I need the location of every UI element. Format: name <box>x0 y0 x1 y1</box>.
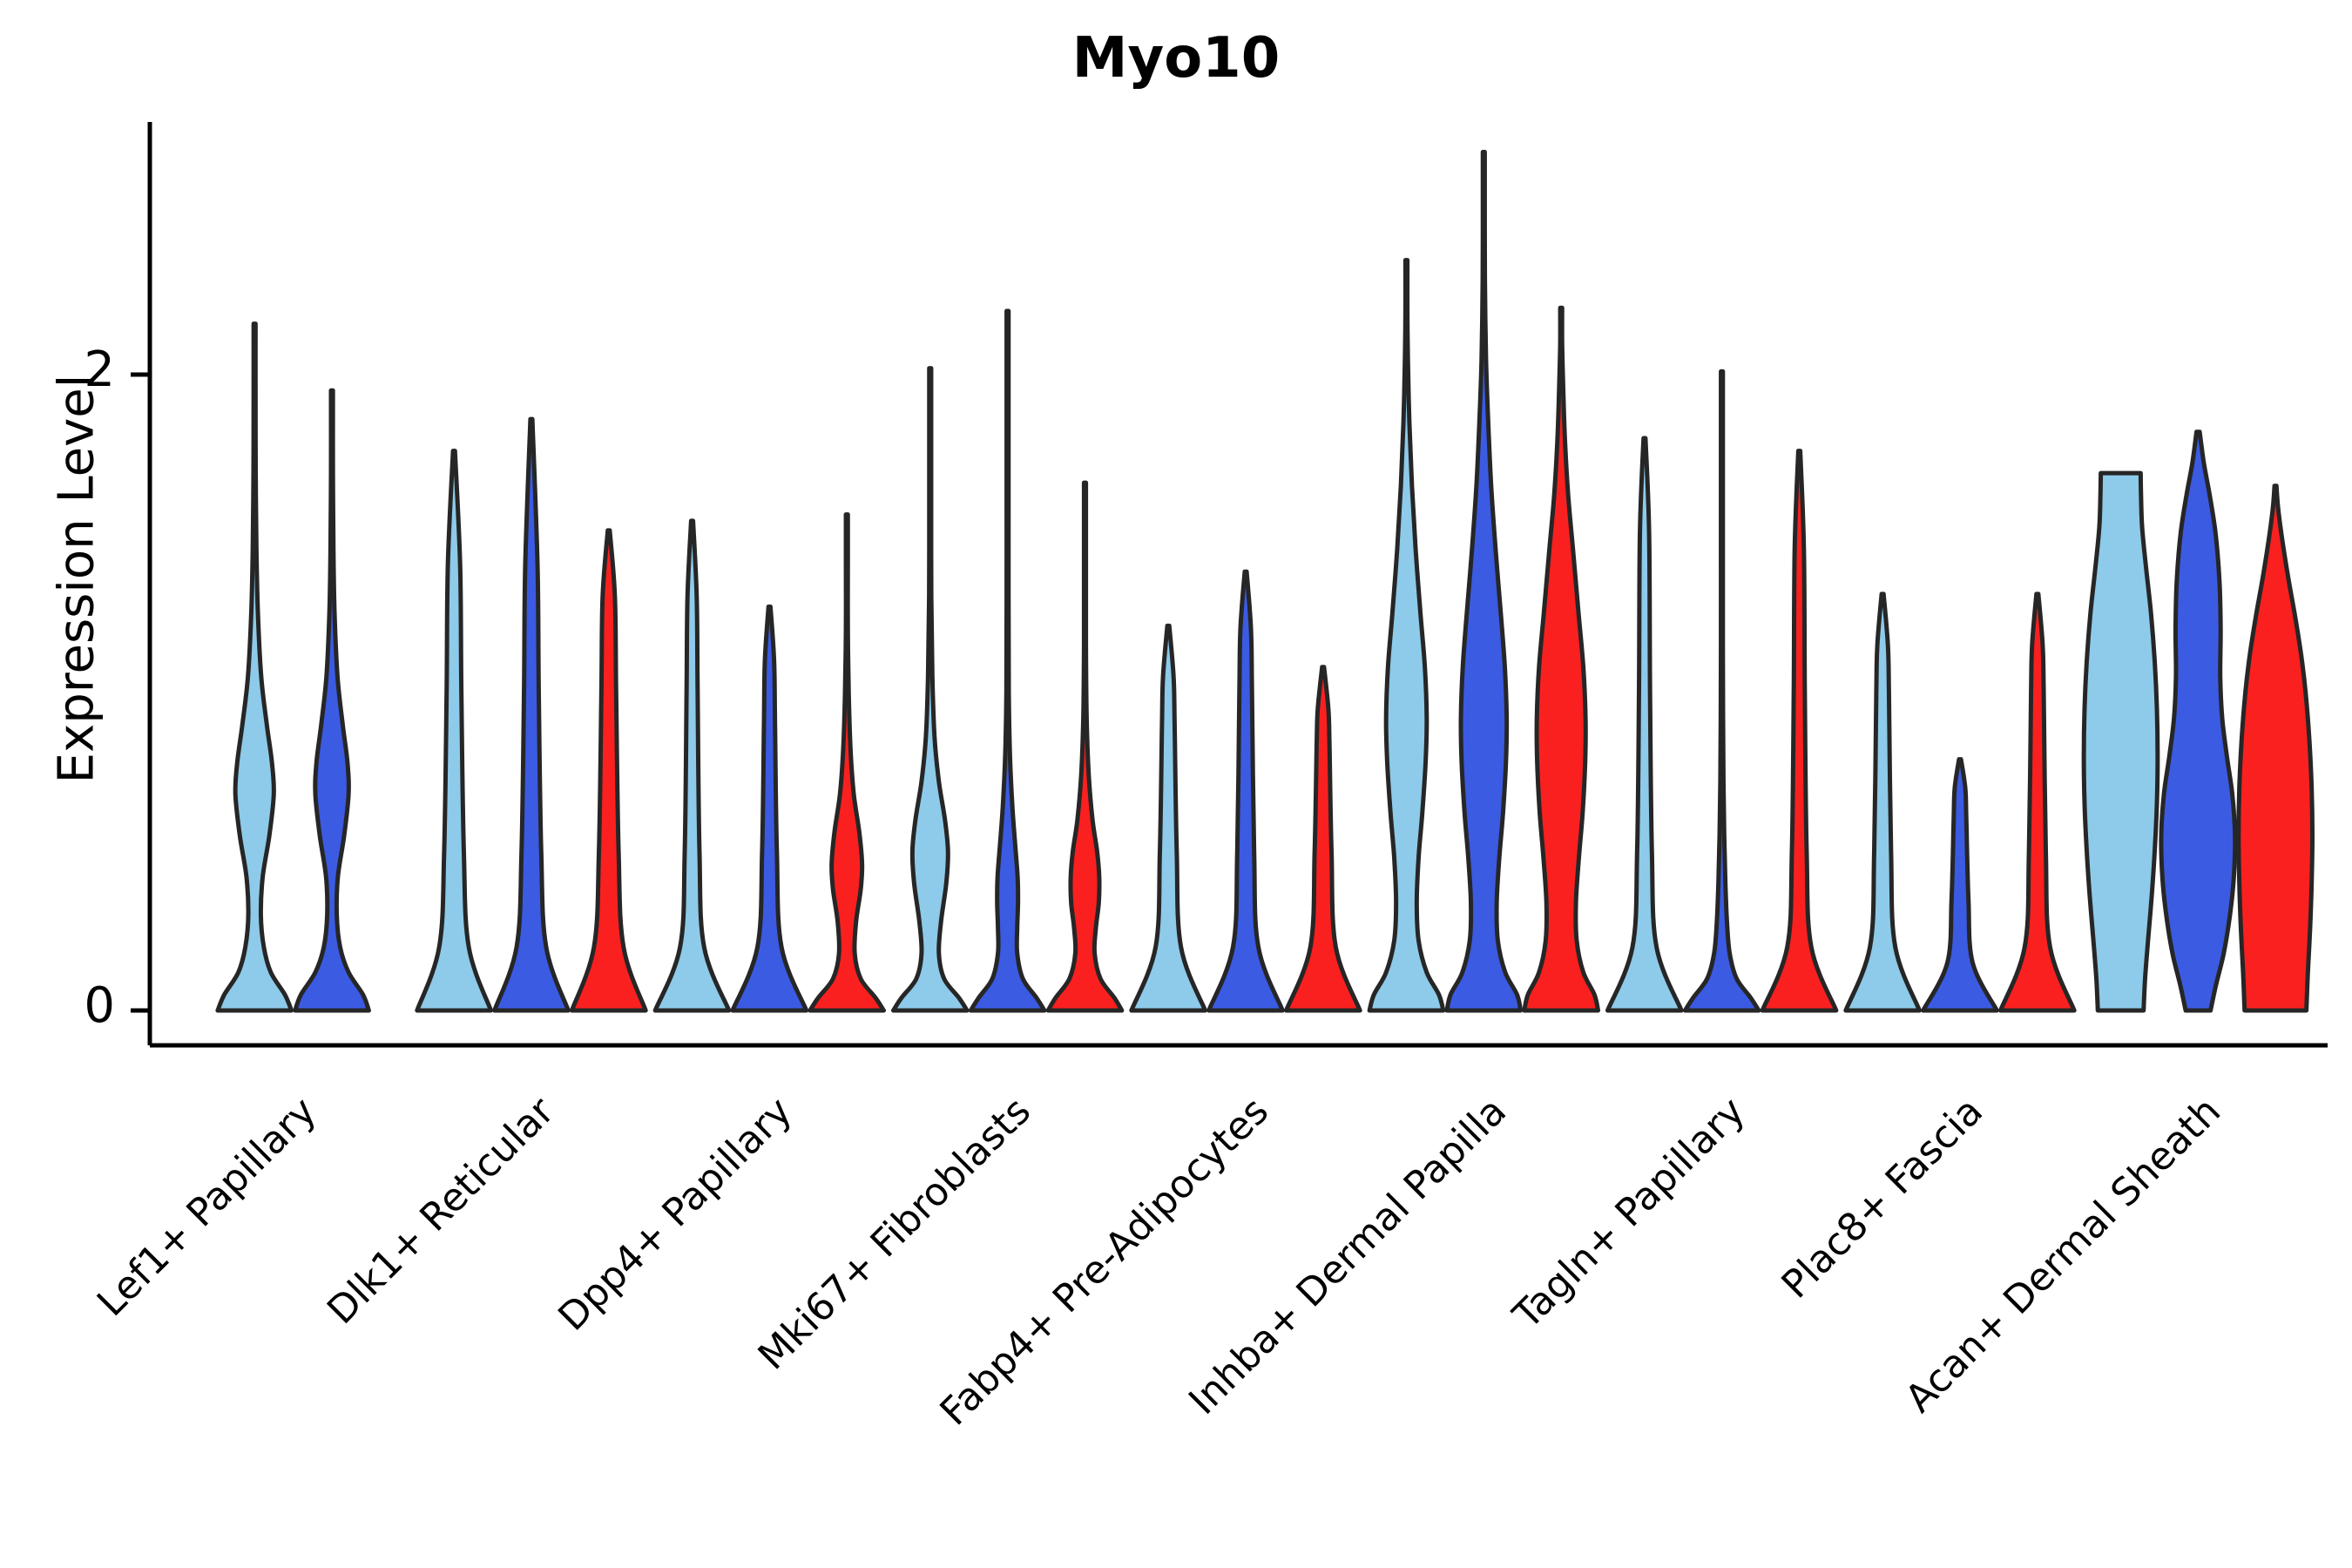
violin-shape <box>733 606 807 1010</box>
violin-shape <box>655 521 729 1010</box>
violin-shape <box>1447 152 1521 1011</box>
violin-shape <box>1132 625 1206 1010</box>
violin-shape <box>1369 260 1443 1010</box>
violin-shape <box>295 390 369 1010</box>
violin-shape <box>2084 473 2158 1010</box>
violin-shape <box>1607 438 1681 1010</box>
violin-shape <box>1209 571 1283 1010</box>
violin-plot-figure: Myo10 Expression Level 02 Lef1+ Papillar… <box>0 0 2352 1568</box>
violin-shape <box>1762 451 1836 1010</box>
violin-shape <box>417 451 491 1010</box>
violin-shape <box>893 368 967 1010</box>
violin-shape <box>571 531 645 1010</box>
violin-shape <box>2000 594 2074 1010</box>
violin-shape <box>2161 432 2235 1010</box>
violin-shape <box>970 311 1044 1010</box>
violin-shape <box>1685 371 1759 1010</box>
violin-shape <box>1846 594 1920 1010</box>
violin-shape <box>1286 667 1360 1010</box>
violin-shape <box>2239 486 2313 1010</box>
y-tick-label: 2 <box>37 341 115 398</box>
violin-shape <box>495 419 569 1010</box>
y-tick-label: 0 <box>37 977 115 1034</box>
violin-shape <box>810 515 884 1010</box>
violin-shape <box>1923 760 1997 1010</box>
violin-shape <box>1048 483 1122 1010</box>
violin-shape <box>218 324 292 1010</box>
violin-shape <box>1524 308 1598 1010</box>
